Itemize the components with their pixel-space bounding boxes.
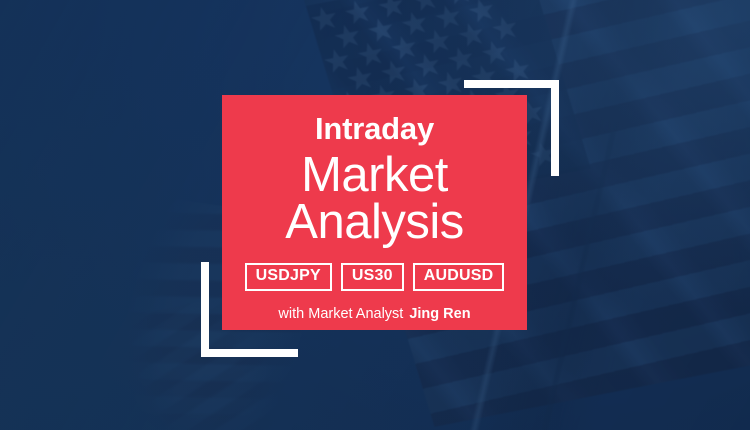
title-panel: Intraday Market Analysis USDJPY US30 AUD… — [222, 95, 527, 330]
instrument-badge-usdjpy[interactable]: USDJPY — [245, 263, 332, 291]
page-title-line-2: Analysis — [285, 199, 463, 246]
instrument-badge-list: USDJPY US30 AUDUSD — [245, 263, 505, 291]
analyst-name: Jing Ren — [409, 306, 470, 322]
page-title: Market Analysis — [285, 152, 463, 246]
byline-prefix: with Market Analyst — [278, 306, 403, 322]
page-title-line-1: Market — [285, 152, 463, 199]
intraday-market-analysis-banner: Intraday Market Analysis USDJPY US30 AUD… — [0, 0, 750, 430]
instrument-badge-audusd[interactable]: AUDUSD — [413, 263, 505, 291]
instrument-badge-us30[interactable]: US30 — [341, 263, 404, 291]
byline: with Market Analyst Jing Ren — [278, 306, 470, 322]
eyebrow-title: Intraday — [315, 113, 434, 144]
